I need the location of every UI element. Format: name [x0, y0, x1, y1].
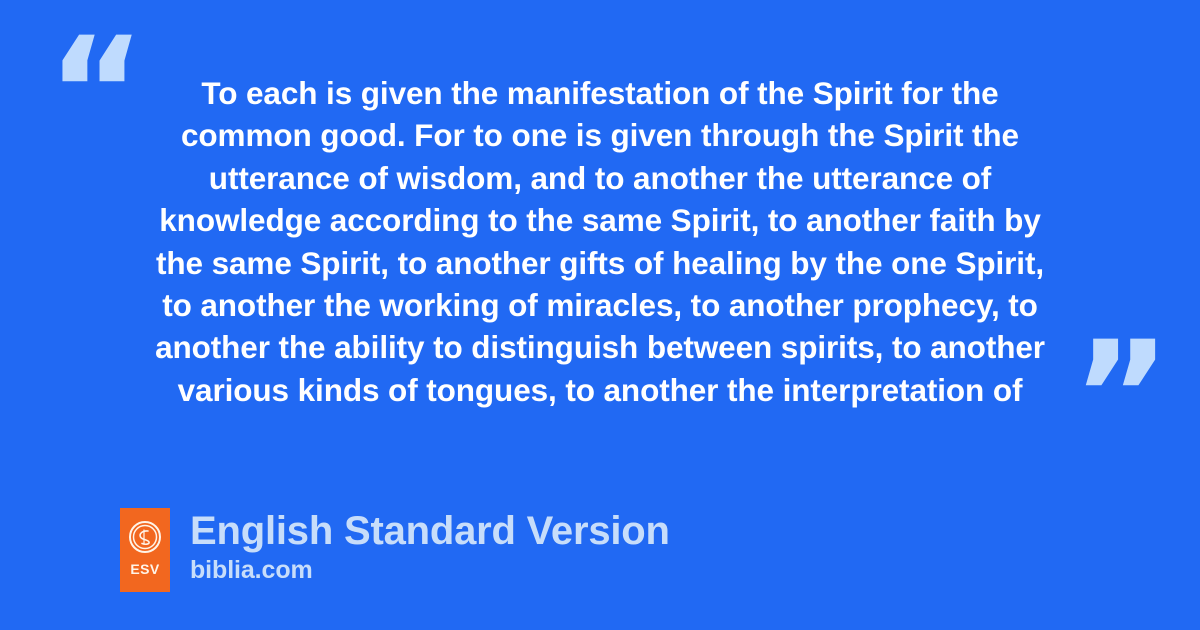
esv-seal-icon [129, 521, 161, 553]
attribution-footer: ESV English Standard Version biblia.com [120, 508, 670, 592]
quote-card: “ To each is given the manifestation of … [0, 0, 1200, 630]
esv-logo: ESV [120, 508, 170, 592]
bible-version-name: English Standard Version [190, 508, 670, 554]
quote-text: To each is given the manifestation of th… [128, 72, 1072, 411]
esv-logo-label: ESV [120, 561, 170, 577]
site-url: biblia.com [190, 555, 670, 585]
footer-text-block: English Standard Version biblia.com [190, 508, 670, 585]
close-quote-icon: ” [1072, 322, 1171, 472]
